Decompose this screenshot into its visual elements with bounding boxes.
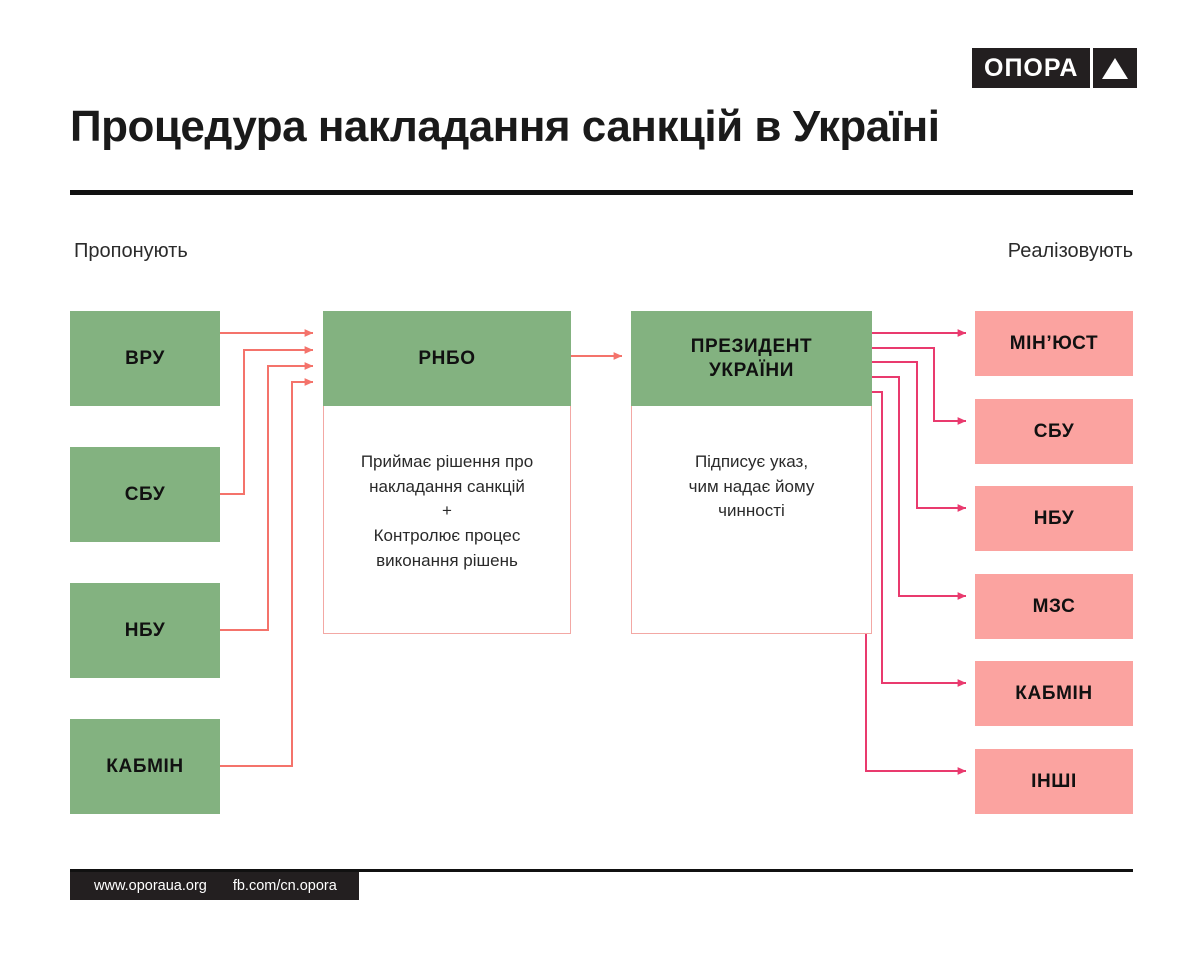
stage-rnbo-body: Приймає рішення про накладання санкцій +… bbox=[323, 406, 571, 634]
opora-logo: ОПОРА bbox=[972, 48, 1137, 88]
proposer-box-sbu[interactable]: СБУ bbox=[70, 447, 220, 542]
implementer-box-mzs[interactable]: МЗС bbox=[975, 574, 1133, 639]
implementer-label: МІН’ЮСТ bbox=[1010, 333, 1099, 355]
footer-facebook-link[interactable]: fb.com/cn.opora bbox=[233, 878, 337, 894]
implementer-box-nbu[interactable]: НБУ bbox=[975, 486, 1133, 551]
implementer-label: НБУ bbox=[1034, 508, 1075, 530]
proposer-box-nbu[interactable]: НБУ bbox=[70, 583, 220, 678]
implementer-label: КАБМІН bbox=[1015, 683, 1092, 705]
stage-president-body: Підписує указ, чим надає йому чинності bbox=[631, 406, 872, 634]
logo-wordmark: ОПОРА bbox=[972, 48, 1090, 88]
implementer-label: СБУ bbox=[1034, 421, 1075, 443]
implementer-label: ІНШІ bbox=[1031, 771, 1077, 793]
proposer-label: НБУ bbox=[125, 619, 166, 643]
proposer-label: КАБМІН bbox=[106, 755, 183, 779]
column-caption-proposers: Пропонують bbox=[74, 240, 188, 263]
proposer-label: СБУ bbox=[125, 483, 166, 507]
implementer-box-minyust[interactable]: МІН’ЮСТ bbox=[975, 311, 1133, 376]
implementer-box-inshi[interactable]: ІНШІ bbox=[975, 749, 1133, 814]
stage-president[interactable]: ПРЕЗИДЕНТ УКРАЇНИ Підписує указ, чим над… bbox=[631, 311, 872, 634]
footer-website-link[interactable]: www.oporaua.org bbox=[94, 878, 207, 894]
proposer-box-kabmin[interactable]: КАБМІН bbox=[70, 719, 220, 814]
stage-president-title: ПРЕЗИДЕНТ УКРАЇНИ bbox=[631, 311, 872, 406]
proposer-label: ВРУ bbox=[125, 347, 165, 371]
stage-rnbo[interactable]: РНБО Приймає рішення про накладання санк… bbox=[323, 311, 571, 634]
title-divider bbox=[70, 190, 1133, 195]
footer-bar: www.oporaua.org fb.com/cn.opora bbox=[70, 872, 359, 900]
triangle-up-icon bbox=[1093, 48, 1137, 88]
stage-rnbo-title: РНБО bbox=[323, 311, 571, 406]
implementer-label: МЗС bbox=[1033, 596, 1076, 618]
proposer-box-vru[interactable]: ВРУ bbox=[70, 311, 220, 406]
page-title: Процедура накладання санкцій в Україні bbox=[70, 103, 1140, 151]
implementer-box-sbu[interactable]: СБУ bbox=[975, 399, 1133, 464]
implementer-box-kabmin[interactable]: КАБМІН bbox=[975, 661, 1133, 726]
column-caption-implementers: Реалізовують bbox=[978, 240, 1133, 263]
